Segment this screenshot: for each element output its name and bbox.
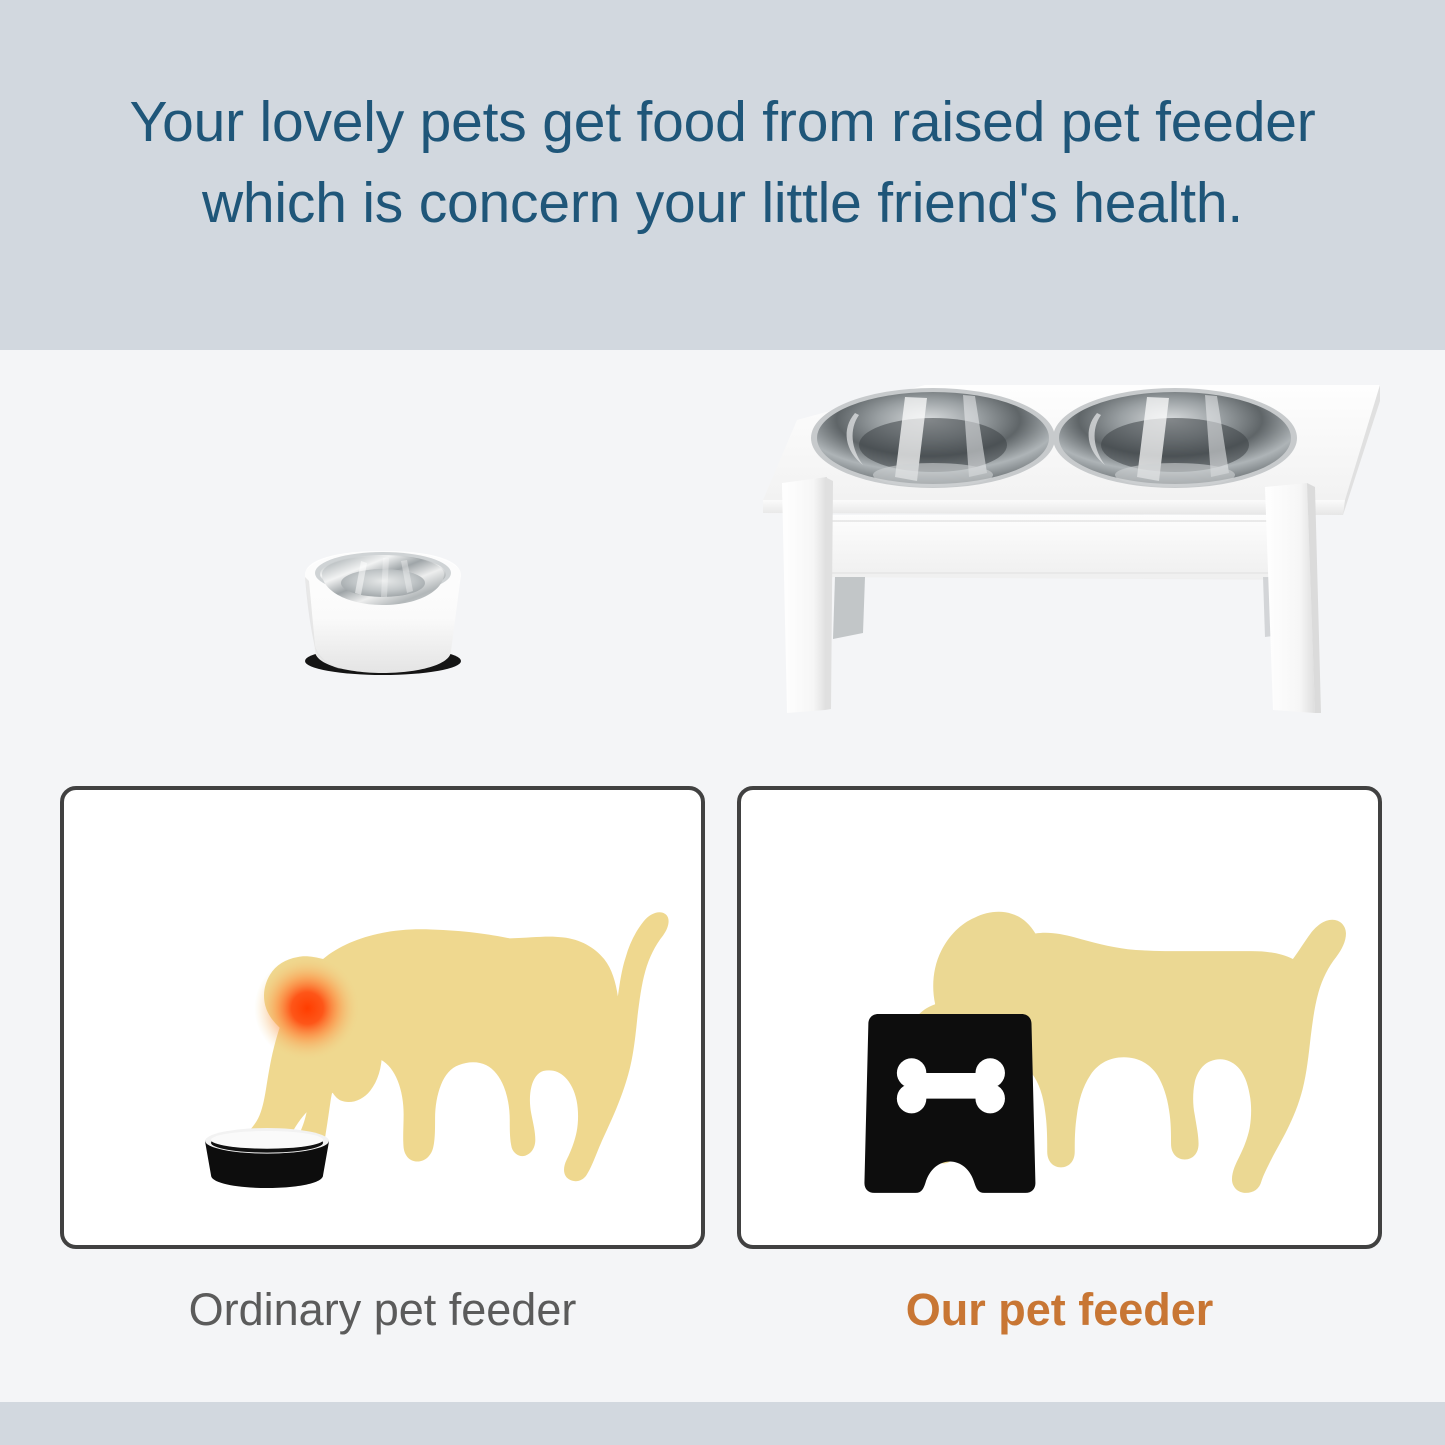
ordinary-low-bowl bbox=[205, 1128, 329, 1188]
pain-spot bbox=[254, 955, 360, 1061]
caption-our-pet-feeder: Our pet feeder bbox=[737, 1287, 1382, 1332]
ordinary-feeder-illustration bbox=[64, 790, 701, 1245]
comparison-row: Ordinary pet feeder bbox=[0, 786, 1445, 1386]
comparison-column-ours: Our pet feeder bbox=[737, 786, 1382, 1332]
our-raised-feeder-stand bbox=[864, 1014, 1035, 1193]
caption-ordinary-pet-feeder: Ordinary pet feeder bbox=[60, 1287, 705, 1332]
bottom-band bbox=[0, 1402, 1445, 1445]
header-banner: Your lovely pets get food from raised pe… bbox=[0, 0, 1445, 350]
headline-text: Your lovely pets get food from raised pe… bbox=[23, 82, 1423, 244]
single-pet-bowl-photo bbox=[283, 533, 483, 678]
our-feeder-card bbox=[737, 786, 1382, 1249]
raised-pet-feeder-photo bbox=[755, 365, 1380, 715]
our-feeder-illustration bbox=[741, 790, 1378, 1245]
product-photo-area bbox=[0, 350, 1445, 780]
ordinary-feeder-card bbox=[60, 786, 705, 1249]
comparison-column-ordinary: Ordinary pet feeder bbox=[60, 786, 705, 1332]
